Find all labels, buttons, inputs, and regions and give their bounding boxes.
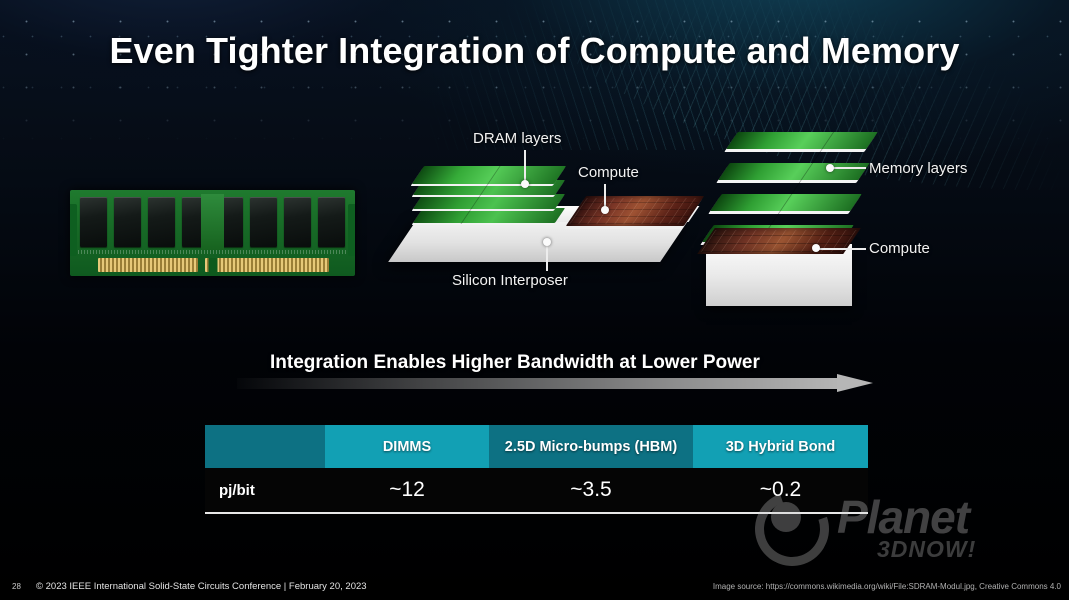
presentation-slide: Even Tighter Integration of Compute and …: [0, 0, 1069, 600]
dimm-chip: [318, 197, 345, 247]
dimm-contact-block: [205, 258, 329, 272]
leader-line-memory: [830, 167, 866, 169]
leader-dot-compute-right: [812, 244, 820, 252]
dram-layer-stack: [418, 162, 564, 228]
callout-label-dram-layers: DRAM layers: [473, 130, 561, 147]
compute-die-2-5d: [566, 196, 704, 226]
package-3d-diagram: [706, 132, 916, 307]
table-header-cell-dimms: DIMMS: [325, 425, 489, 468]
table-header-row: DIMMS 2.5D Micro-bumps (HBM) 3D Hybrid B…: [205, 425, 868, 468]
callout-label-silicon-interposer: Silicon Interposer: [452, 272, 568, 289]
leader-dot-interposer: [543, 238, 551, 246]
leader-dot-memory: [826, 164, 834, 172]
dimm-contact-block: [98, 258, 198, 272]
dimm-pcb-traces: [78, 250, 347, 254]
footer-copyright: © 2023 IEEE International Solid-State Ci…: [36, 581, 367, 592]
callout-label-memory-layers: Memory layers: [869, 160, 967, 177]
dimm-chip: [148, 197, 175, 247]
dimm-chip: [114, 197, 141, 247]
leader-line-compute-right: [818, 248, 866, 250]
table-cell-row-label: pj/bit: [205, 468, 325, 512]
watermark-planet-3dnow: Planet 3DNOW!: [749, 488, 1059, 572]
memory-layer: [726, 132, 877, 149]
table-cell-dimms-value: ~12: [325, 468, 489, 512]
memory-layer: [718, 163, 869, 180]
dimm-left-edge: [70, 204, 77, 256]
leader-line-interposer: [546, 243, 548, 271]
dram-layer: [413, 208, 565, 223]
dimm-center-pcb: [201, 194, 224, 250]
table-header-cell-micro-bumps: 2.5D Micro-bumps (HBM): [489, 425, 693, 468]
progression-arrow: [237, 374, 874, 392]
table-header-cell-hybrid-bond: 3D Hybrid Bond: [693, 425, 868, 468]
table-cell-micro-bumps-value: ~3.5: [489, 468, 693, 512]
dimm-right-edge: [348, 204, 355, 256]
dimm-key-notch: [208, 258, 217, 276]
callout-label-compute-right: Compute: [869, 240, 930, 257]
dimm-chip: [250, 197, 277, 247]
dimm-module-image: [70, 190, 355, 276]
watermark-tagline: 3DNOW!: [877, 536, 976, 563]
arrow-head-icon: [837, 374, 873, 392]
background-dots-pattern: [0, 0, 1069, 150]
callout-label-compute-center: Compute: [578, 164, 639, 181]
slide-title: Even Tighter Integration of Compute and …: [0, 30, 1069, 72]
image-source-credit: Image source: https://commons.wikimedia.…: [713, 582, 1061, 591]
dimm-chip: [284, 197, 311, 247]
leader-dot-compute-center: [601, 206, 609, 214]
watermark-ball-icon: [771, 502, 801, 532]
slide-subtitle: Integration Enables Higher Bandwidth at …: [270, 352, 760, 374]
leader-dot-dram: [521, 180, 529, 188]
arrow-shaft: [237, 378, 843, 389]
leader-line-dram: [524, 150, 526, 184]
page-number: 28: [12, 582, 21, 591]
dimm-chip: [80, 197, 107, 247]
compute-die-3d: [697, 228, 861, 254]
table-header-cell-blank: [205, 425, 325, 468]
dram-layer: [413, 194, 565, 209]
